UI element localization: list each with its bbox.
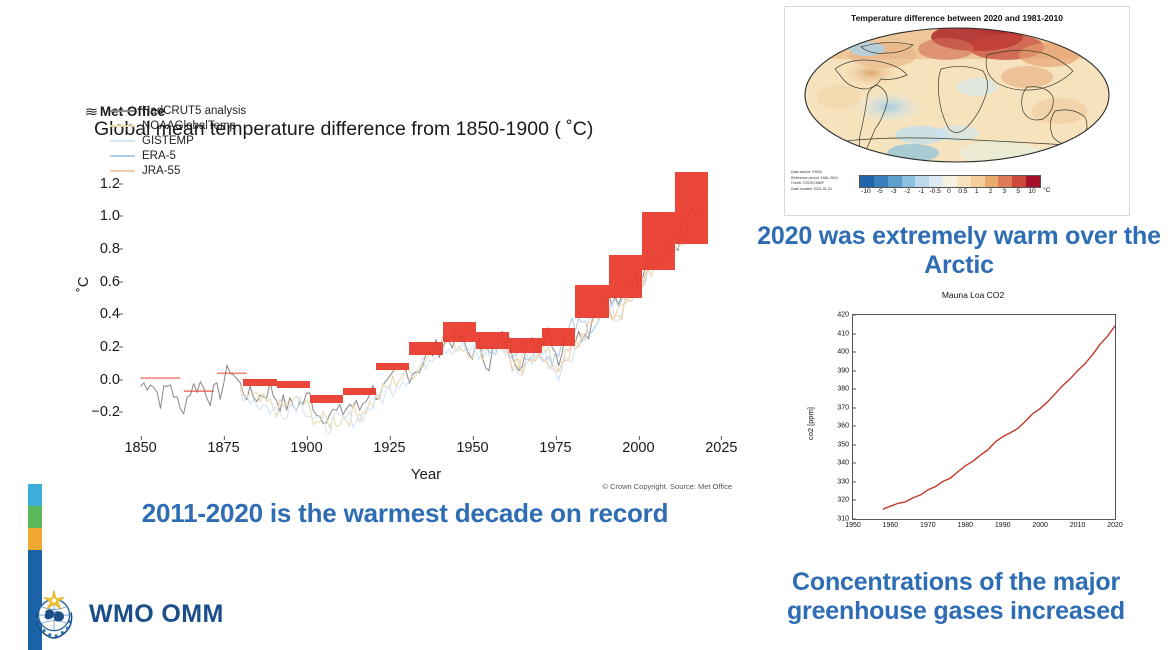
legend-item: JRA-55 [110, 164, 246, 178]
x-axis-label: Year [124, 466, 728, 483]
legend-label: NOAAGlobalTemp [142, 120, 236, 132]
colorbar-segment [860, 176, 874, 187]
y-axis-tick-label: 0.6 [62, 274, 120, 290]
world-map-globe [801, 25, 1113, 165]
decade-mean-bar [376, 363, 409, 370]
y-axis-tick-mark [119, 281, 123, 282]
y-axis-tick-label: 0.8 [62, 241, 120, 257]
co2-y-tick-label: 390 [837, 367, 849, 374]
co2-x-tick-label: 1980 [957, 522, 973, 529]
global-temperature-chart: ≋ Met Office Global mean temperature dif… [60, 100, 750, 480]
co2-y-tick-mark [853, 370, 856, 371]
co2-x-tick-label: 2020 [1107, 522, 1123, 529]
colorbar-tick-label: -10 [861, 188, 871, 195]
co2-x-tick-label: 2010 [1070, 522, 1086, 529]
x-axis-tick-label: 1875 [207, 440, 239, 456]
co2-chart-title: Mauna Loa CO2 [800, 290, 1146, 300]
co2-y-tick-label: 410 [837, 330, 849, 337]
x-axis-tick-label: 1900 [290, 440, 322, 456]
y-axis-tick-mark [119, 347, 123, 348]
legend-item: ERA-5 [110, 149, 246, 163]
series-line [141, 187, 705, 423]
y-axis-tick-mark [119, 183, 123, 184]
y-axis-tick-label: 0.4 [62, 306, 120, 322]
colorbar-tick-label: 5 [1016, 188, 1020, 195]
colorbar-segment [943, 176, 957, 187]
mauna-loa-co2-chart: Mauna Loa CO2 co2 [ppm] 3103203303403503… [800, 290, 1146, 562]
y-axis-tick-mark [119, 379, 123, 380]
legend-swatch [110, 125, 135, 128]
y-axis-tick-label: 1.0 [62, 208, 120, 224]
co2-y-tick-label: 420 [837, 312, 849, 319]
legend-item: HadCRUT5 analysis [110, 104, 246, 118]
co2-x-tick-label: 1970 [920, 522, 936, 529]
co2-y-tick-label: 320 [837, 497, 849, 504]
legend-swatch [110, 110, 135, 113]
wmo-logo-block: WMO OMM [28, 588, 224, 640]
colorbar-segment [874, 176, 888, 187]
y-axis-tick-label: 0.2 [62, 339, 120, 355]
legend-swatch [110, 170, 135, 173]
colorbar-tick-label: 3 [1003, 188, 1007, 195]
decade-mean-bar [277, 381, 310, 388]
co2-y-axis-label: co2 [ppm] [806, 407, 815, 440]
co2-series [853, 315, 1115, 519]
plot-area: ˚C 1.21.00.80.60.40.20.0−0.2 18501875190… [124, 164, 728, 432]
legend-label: JRA-55 [142, 165, 180, 177]
map-colorbar-ticks: -10-5-3-2-1-0.500.5123510 [849, 188, 1049, 200]
co2-y-tick-mark [853, 444, 856, 445]
y-axis-tick-mark [119, 314, 123, 315]
co2-y-tick-mark [853, 407, 856, 408]
co2-y-tick-mark [853, 333, 856, 334]
x-axis-tick-label: 1950 [456, 440, 488, 456]
co2-y-tick-mark [853, 389, 856, 390]
decade-mean-bar [509, 338, 542, 352]
decade-mean-bar [343, 388, 376, 395]
wmo-emblem-icon [28, 588, 80, 640]
decade-mean-bar [542, 328, 575, 346]
decade-mean-bar [675, 172, 708, 244]
x-axis-tick-label: 2025 [705, 440, 737, 456]
chart-legend: HadCRUT5 analysisNOAAGlobalTempGISTEMPER… [110, 104, 246, 179]
colorbar-tick-label: -1 [918, 188, 924, 195]
slide-root: WMO OMM 2011-2020 is the warmest decade … [0, 0, 1170, 650]
decade-mean-bar [476, 332, 509, 348]
decade-mean-bar [443, 322, 476, 342]
decade-mean-bar [642, 212, 675, 270]
legend-swatch [110, 155, 135, 158]
co2-x-tick-label: 1960 [883, 522, 899, 529]
co2-y-tick-label: 340 [837, 460, 849, 467]
colorbar-segment [998, 176, 1012, 187]
colorbar-tick-label: 1 [975, 188, 979, 195]
x-axis-tick-label: 2000 [622, 440, 654, 456]
map-colorbar [859, 175, 1041, 188]
legend-label: HadCRUT5 analysis [142, 105, 246, 117]
co2-x-tick-label: 2000 [1032, 522, 1048, 529]
headline-warmest-decade: 2011-2020 is the warmest decade on recor… [110, 498, 700, 528]
colorbar-segment [1012, 176, 1026, 187]
y-axis-tick-label: 0.0 [62, 372, 120, 388]
map-colorbar-unit: °C [1043, 187, 1050, 194]
co2-y-tick-mark [853, 500, 856, 501]
x-axis-tick-mark [638, 436, 639, 440]
x-axis-tick-label: 1850 [124, 440, 156, 456]
colorbar-segment [971, 176, 985, 187]
legend-item: NOAAGlobalTemp [110, 119, 246, 133]
legend-label: ERA-5 [142, 150, 176, 162]
co2-y-tick-label: 350 [837, 441, 849, 448]
met-office-wave-icon: ≋ [85, 105, 99, 118]
co2-y-tick-mark [853, 352, 856, 353]
co2-y-tick-label: 400 [837, 349, 849, 356]
co2-y-tick-label: 370 [837, 404, 849, 411]
colorbar-segment [985, 176, 999, 187]
map-metadata-line: Date created: 2021-01-31 [791, 187, 838, 193]
colorbar-tick-label: -5 [877, 188, 883, 195]
headline-greenhouse-gases: Concentrations of the major greenhouse g… [744, 568, 1168, 626]
rail-segment [28, 506, 42, 528]
co2-y-tick-label: 360 [837, 423, 849, 430]
co2-y-tick-mark [853, 463, 856, 464]
co2-y-tick-label: 380 [837, 386, 849, 393]
decade-mean-bar [575, 285, 608, 318]
x-axis-tick-mark [472, 436, 473, 440]
rail-segment [28, 484, 42, 506]
wmo-wordmark: WMO OMM [89, 600, 224, 629]
y-axis-tick-mark [119, 412, 123, 413]
colorbar-tick-label: 10 [1028, 188, 1035, 195]
colorbar-tick-label: -2 [905, 188, 911, 195]
co2-y-tick-mark [853, 481, 856, 482]
colorbar-tick-label: -0.5 [929, 188, 940, 195]
x-axis-tick-mark [389, 436, 390, 440]
colorbar-segment [957, 176, 971, 187]
x-axis-tick-mark [307, 436, 308, 440]
colorbar-segment [902, 176, 916, 187]
co2-y-tick-mark [853, 315, 856, 316]
co2-y-tick-mark [853, 426, 856, 427]
colorbar-tick-label: 0 [947, 188, 951, 195]
co2-y-tick-label: 330 [837, 478, 849, 485]
colorbar-segment [915, 176, 929, 187]
colorbar-tick-label: 2 [989, 188, 993, 195]
co2-x-tick-label: 1950 [845, 522, 861, 529]
rail-segment [28, 528, 42, 550]
x-axis-tick-mark [555, 436, 556, 440]
legend-swatch [110, 140, 135, 143]
colorbar-tick-label: 0.5 [958, 188, 967, 195]
legend-item: GISTEMP [110, 134, 246, 148]
y-axis-tick-mark [119, 248, 123, 249]
x-axis-tick-mark [224, 436, 225, 440]
decade-mean-bar [609, 255, 642, 298]
decade-mean-bar [409, 342, 442, 355]
map-title: Temperature difference between 2020 and … [785, 13, 1129, 23]
x-axis-tick-label: 1925 [373, 440, 405, 456]
colorbar-segment [1026, 176, 1040, 187]
world-map-panel: Temperature difference between 2020 and … [784, 6, 1130, 216]
headline-arctic-warm: 2020 was extremely warm over the Arctic [752, 222, 1166, 280]
decade-mean-bar [310, 395, 343, 403]
colorbar-segment [888, 176, 902, 187]
x-axis-tick-mark [721, 436, 722, 440]
co2-line [883, 326, 1115, 509]
co2-y-tick-mark [853, 519, 856, 520]
x-axis-tick-mark [141, 436, 142, 440]
decade-mean-bar [243, 379, 276, 386]
colorbar-tick-label: -3 [891, 188, 897, 195]
y-axis-tick-mark [119, 216, 123, 217]
colorbar-segment [929, 176, 943, 187]
legend-label: GISTEMP [142, 135, 194, 147]
co2-x-tick-label: 1990 [995, 522, 1011, 529]
map-metadata: Data source: ERA5Reference period: 1981-… [791, 170, 838, 192]
y-axis-tick-label: −0.2 [62, 404, 120, 420]
chart-credit: © Crown Copyright. Source: Met Office [602, 482, 732, 491]
co2-plot-area: 3103203303403503603703803904004104201950… [852, 314, 1116, 520]
x-axis-tick-label: 1975 [539, 440, 571, 456]
